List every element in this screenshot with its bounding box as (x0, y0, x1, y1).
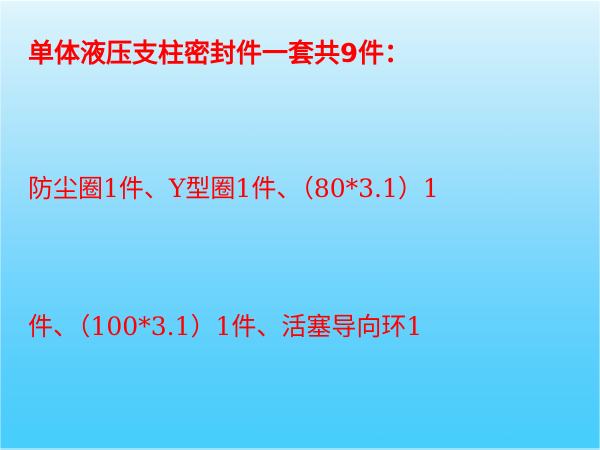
body-line: 件、（100*3.1）1件、活塞导向环1 (28, 304, 576, 350)
slide-title: 单体液压支柱密封件一套共9件： (28, 34, 576, 74)
body-line: 防尘圈1件、Y型圈1件、（80*3.1）1 (28, 166, 576, 212)
presentation-slide: 单体液压支柱密封件一套共9件： 防尘圈1件、Y型圈1件、（80*3.1）1 件、… (0, 0, 600, 450)
slide-text-frame[interactable]: 单体液压支柱密封件一套共9件： 防尘圈1件、Y型圈1件、（80*3.1）1 件、… (28, 34, 576, 450)
slide-body-text: 防尘圈1件、Y型圈1件、（80*3.1）1 件、（100*3.1）1件、活塞导向… (28, 74, 576, 450)
body-line: 件、手把导向环1件、 皮碗防挤圈1 (28, 442, 576, 450)
